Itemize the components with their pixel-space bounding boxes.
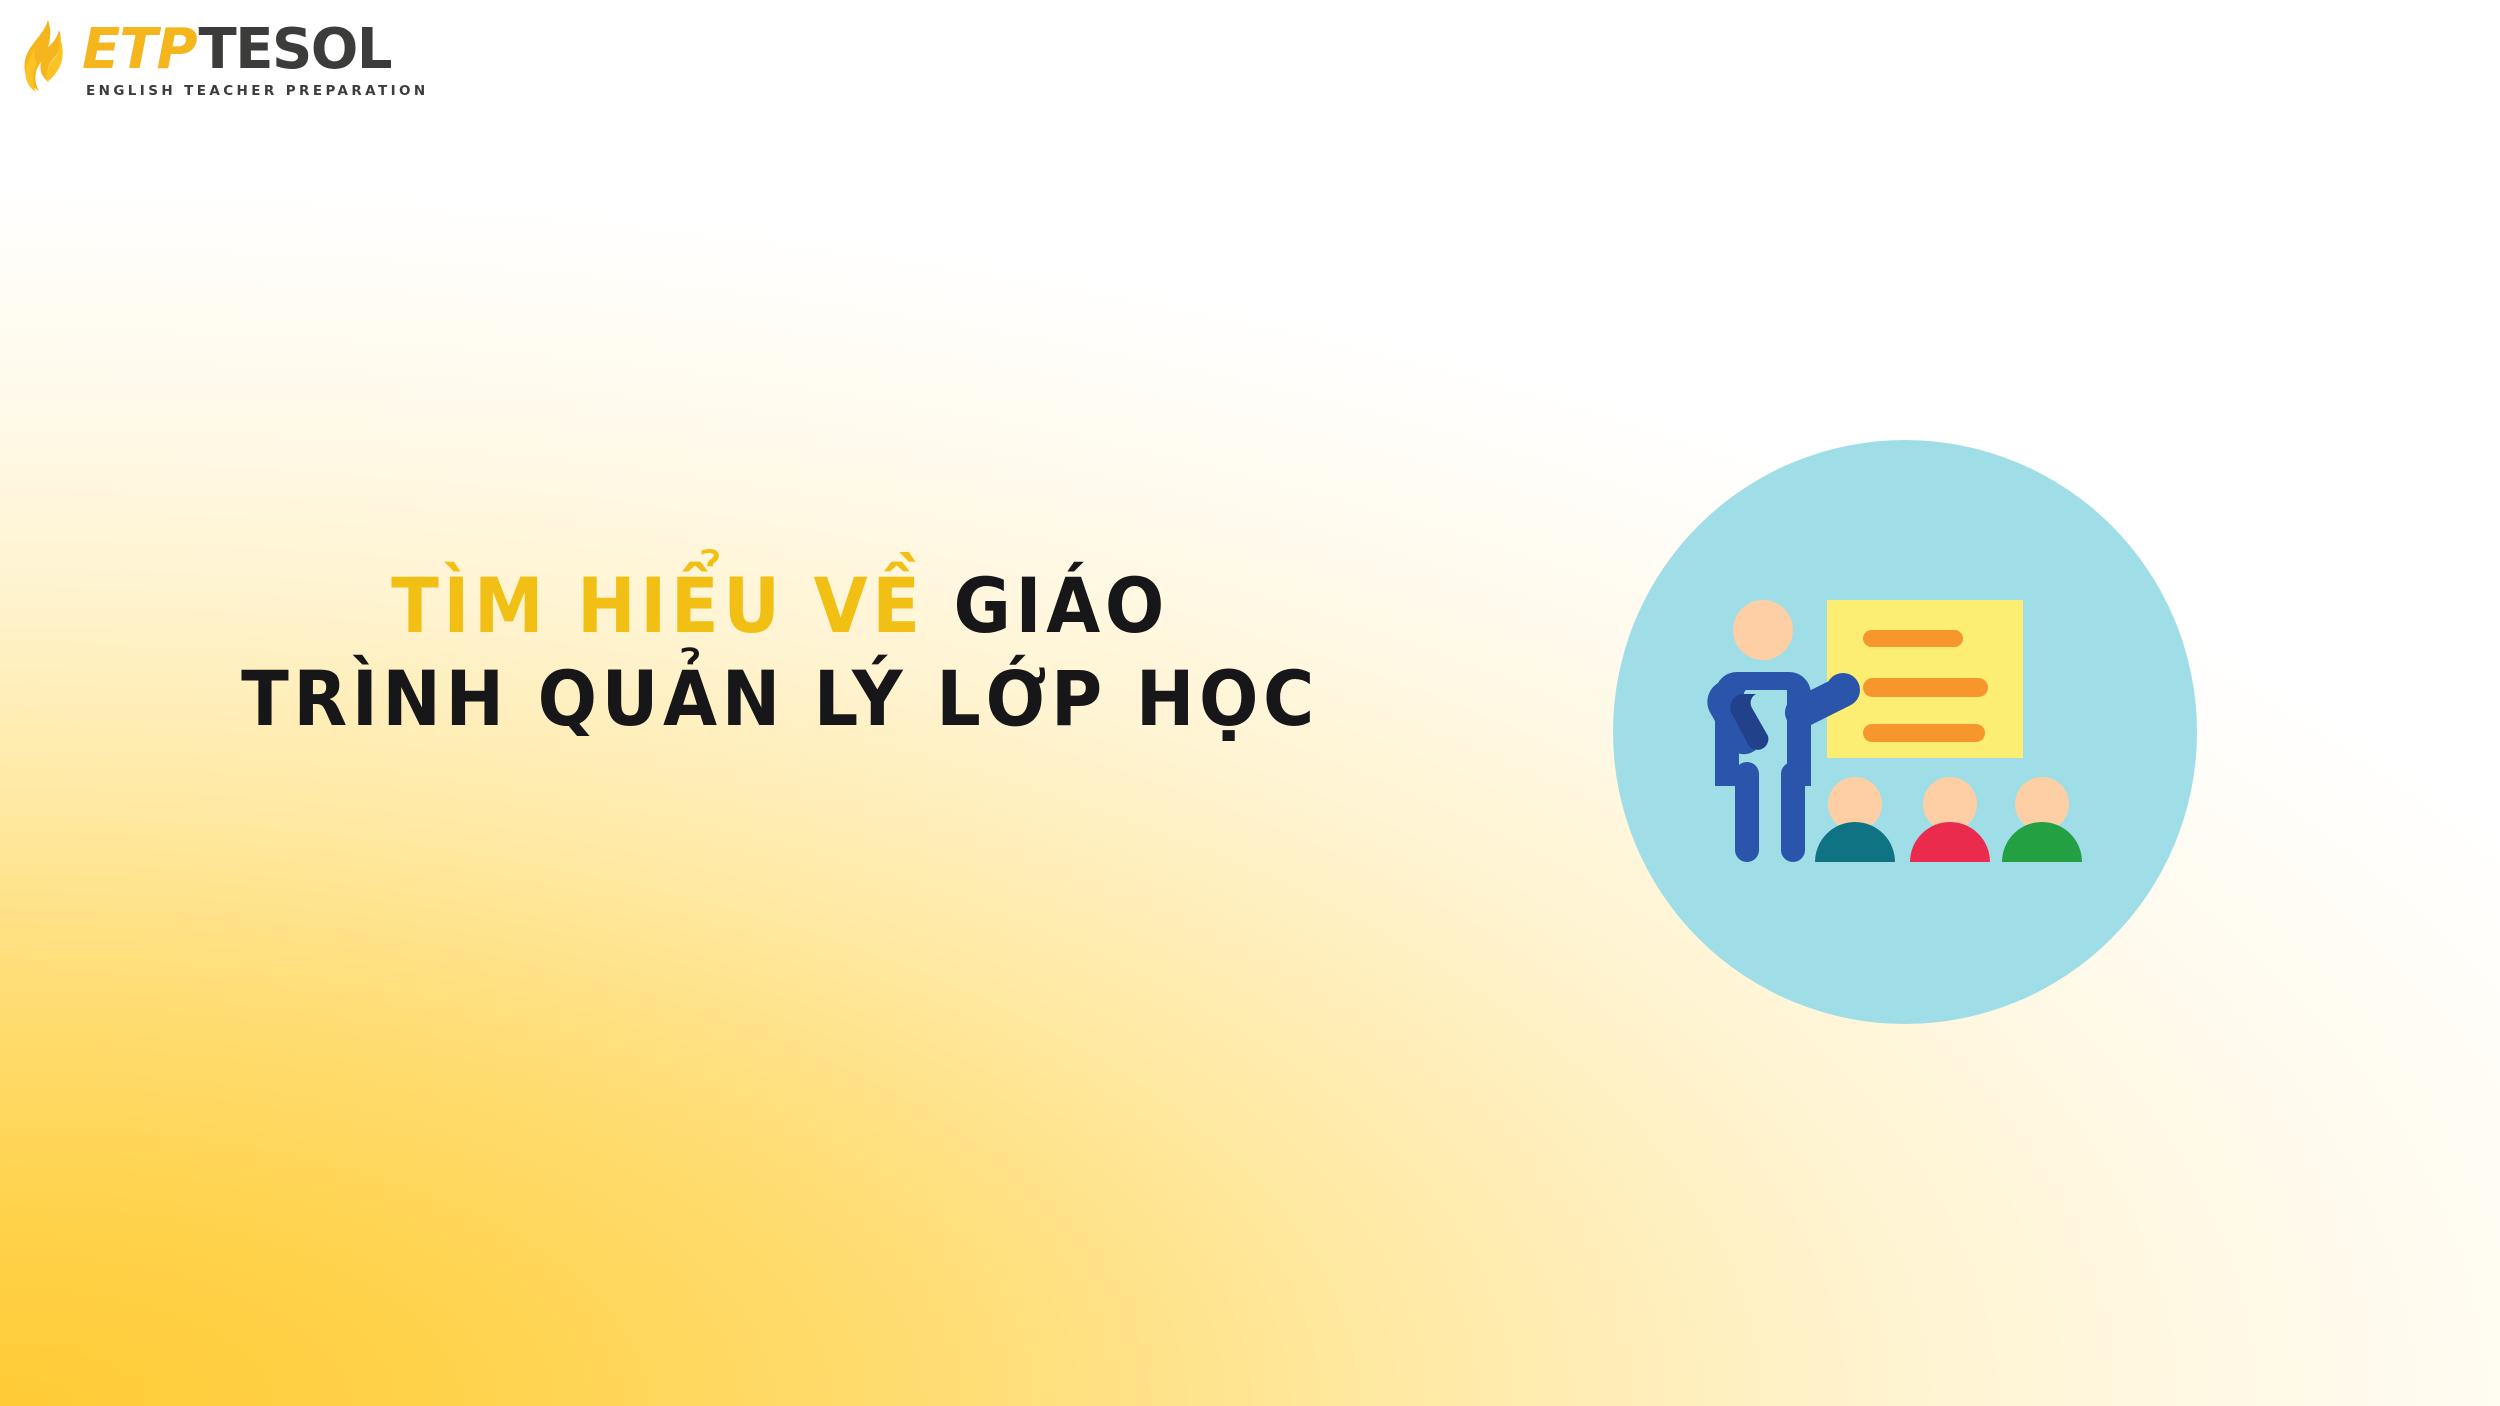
brand-tagline: ENGLISH TEACHER PREPARATION	[86, 83, 429, 99]
brand-name-secondary: TESOL	[199, 22, 392, 78]
teacher-leg-right	[1781, 762, 1805, 862]
headline-dark-text-1: GIÁO	[954, 561, 1169, 650]
presentation-board-icon	[1827, 600, 2023, 758]
banner: ETP TESOL ENGLISH TEACHER PREPARATION TÌ…	[0, 0, 2500, 1406]
board-line-2	[1863, 678, 1988, 697]
board-line-1	[1863, 630, 1963, 647]
teacher-hand	[1826, 673, 1860, 707]
illustration-svg	[1605, 432, 2205, 1032]
headline-accent-text: TÌM HIỂU VỀ	[391, 561, 925, 650]
flame-icon	[14, 18, 76, 96]
headline: TÌM HIỂU VỀ GIÁO TRÌNH QUẢN LÝ LỚP HỌC	[0, 560, 1560, 745]
brand-name-primary: ETP	[82, 22, 197, 78]
teacher-head	[1733, 600, 1793, 660]
headline-line-1: TÌM HIỂU VỀ GIÁO	[62, 560, 1497, 653]
board-line-3	[1863, 724, 1985, 742]
headline-line-2: TRÌNH QUẢN LÝ LỚP HỌC	[62, 653, 1497, 746]
brand-logo-text: ETP TESOL ENGLISH TEACHER PREPARATION	[82, 18, 429, 99]
teacher-leg-left	[1735, 762, 1759, 862]
classroom-management-illustration	[1605, 432, 2205, 1032]
brand-wordmark: ETP TESOL	[82, 22, 429, 78]
brand-logo[interactable]: ETP TESOL ENGLISH TEACHER PREPARATION	[14, 18, 514, 110]
